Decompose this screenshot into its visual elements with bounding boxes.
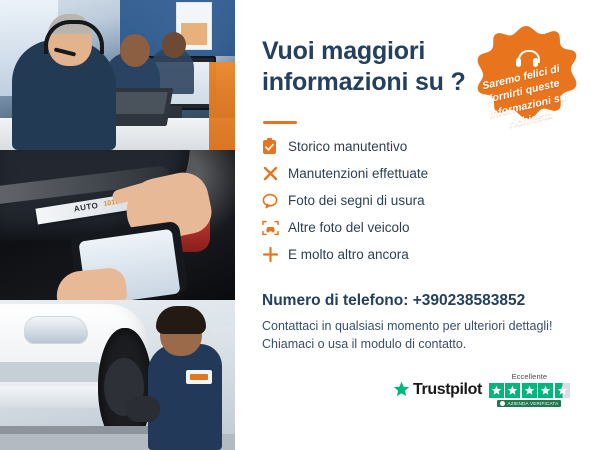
list-item-label: Storico manutentivo (288, 139, 407, 154)
list-item-label: Altre foto del veicolo (288, 220, 410, 235)
list-item-label: Manutenzioni effettuate (288, 166, 428, 181)
trustpilot-wordmark: Trustpilot (413, 381, 482, 399)
contact-text-line-2: Chiamaci o usa il modulo di contatto. (262, 337, 466, 351)
list-item: Foto dei segni di usura (262, 187, 512, 214)
star-icon-half (555, 383, 570, 398)
info-panel: Vuoi maggiori informazioni su ? Saremo f… (235, 0, 600, 450)
wrench-cross-icon (262, 163, 288, 185)
feature-list: Storico manutentivo Manutenzioni effettu… (262, 133, 512, 268)
clipboard-check-icon (262, 136, 288, 158)
phone-number-line: Numero di telefono: +390238583852 (262, 292, 525, 310)
verified-label: AZIENDA VERIFICATA (507, 401, 558, 406)
car-frame-icon (262, 217, 288, 239)
request-info-badge: Saremo felici di fornirti queste informa… (466, 24, 586, 148)
trustpilot-star-icon (393, 381, 410, 398)
page-title-line-2: informazioni su ? (262, 67, 492, 98)
photo-column (0, 0, 235, 450)
contact-text-line-1: Contattaci in qualsiasi momento per ulte… (262, 319, 552, 333)
call-center-agents-photo (0, 0, 235, 150)
title-divider (263, 121, 297, 124)
trustpilot-rating: Trustpilot Eccellente AZIENDA VERIFICATA (393, 372, 570, 407)
list-item: Altre foto del veicolo (262, 214, 512, 241)
list-item: Manutenzioni effettuate (262, 160, 512, 187)
plus-icon (262, 244, 288, 266)
star-icon (505, 383, 520, 398)
service-info-banner: Vuoi maggiori informazioni su ? Saremo f… (0, 0, 600, 450)
list-item-label: Foto dei segni di usura (288, 193, 425, 208)
list-item-label: E molto altro ancora (288, 247, 409, 262)
verified-company-badge: AZIENDA VERIFICATA (497, 400, 561, 407)
trustpilot-logo: Trustpilot (393, 381, 482, 399)
paint-thickness-inspection-photo (0, 150, 235, 300)
page-title-line-1: Vuoi maggiori (262, 36, 492, 67)
trustpilot-rating-label: Eccellente (512, 372, 548, 381)
verified-check-icon (500, 401, 505, 406)
list-item: Storico manutentivo (262, 133, 512, 160)
trustpilot-score-block: Eccellente AZIENDA VERIFICATA (489, 372, 570, 407)
star-rating (489, 383, 570, 398)
star-icon (538, 383, 553, 398)
headset-icon (516, 50, 538, 68)
page-title: Vuoi maggiori informazioni su ? (262, 36, 492, 97)
star-icon (489, 383, 504, 398)
mechanic-wheel-inspection-photo (0, 300, 235, 450)
star-icon (522, 383, 537, 398)
list-item: E molto altro ancora (262, 241, 512, 268)
search-bubble-icon (262, 190, 288, 212)
